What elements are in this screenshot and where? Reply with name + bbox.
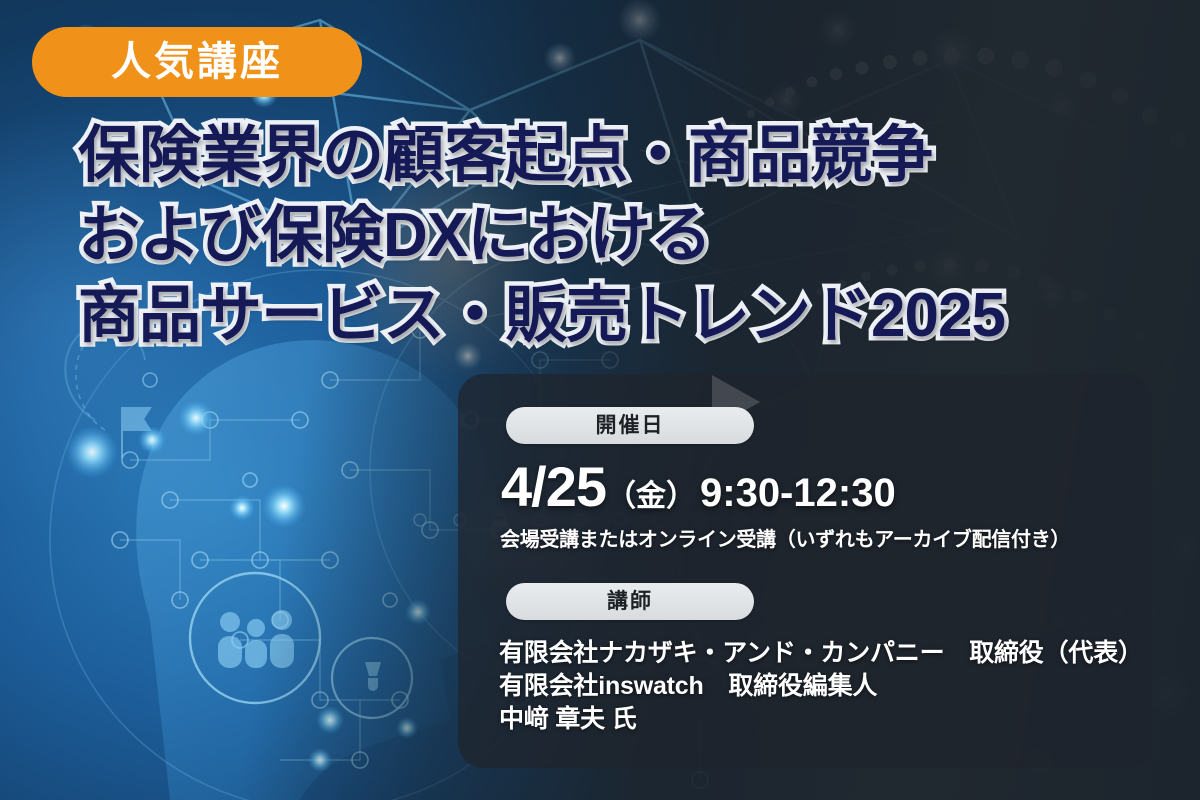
page-title: 保険業界の顧客起点・商品競争 および保険DXにおける 商品サービス・販売トレンド…	[78, 116, 1138, 356]
title-line-1: 保険業界の顧客起点・商品競争	[78, 116, 1138, 196]
event-date-line: 4/25（金）9:30-12:30	[501, 459, 896, 515]
lecturer-details: 有限会社ナカザキ・アンド・カンパニー 取締役（代表） 有限会社inswatch …	[499, 637, 1143, 736]
seminar-banner: 人気講座 保険業界の顧客起点・商品競争 および保険DXにおける 商品サービス・販…	[0, 0, 1200, 800]
lecturer-section-pill: 講師	[506, 583, 754, 620]
event-time: 9:30-12:30	[700, 471, 896, 515]
date-section-pill: 開催日	[506, 407, 754, 444]
attendance-note: 会場受講またはオンライン受講（いずれもアーカイブ配信付き）	[500, 523, 1070, 552]
popular-course-badge-label: 人気講座	[111, 42, 283, 82]
title-line-2: および保険DXにおける	[78, 196, 1138, 276]
lecturer-affiliation-1: 有限会社ナカザキ・アンド・カンパニー 取締役（代表）	[499, 637, 1143, 670]
lecturer-name: 中﨑 章夫 氏	[499, 703, 1143, 736]
event-date: 4/25	[501, 455, 606, 518]
date-section-label: 開催日	[596, 415, 665, 436]
lecturer-section-label: 講師	[607, 591, 653, 612]
popular-course-badge: 人気講座	[32, 27, 362, 97]
event-weekday: （金）	[606, 480, 696, 513]
lecturer-affiliation-2: 有限会社inswatch 取締役編集人	[499, 670, 1143, 703]
title-line-3: 商品サービス・販売トレンド2025	[78, 276, 1138, 356]
